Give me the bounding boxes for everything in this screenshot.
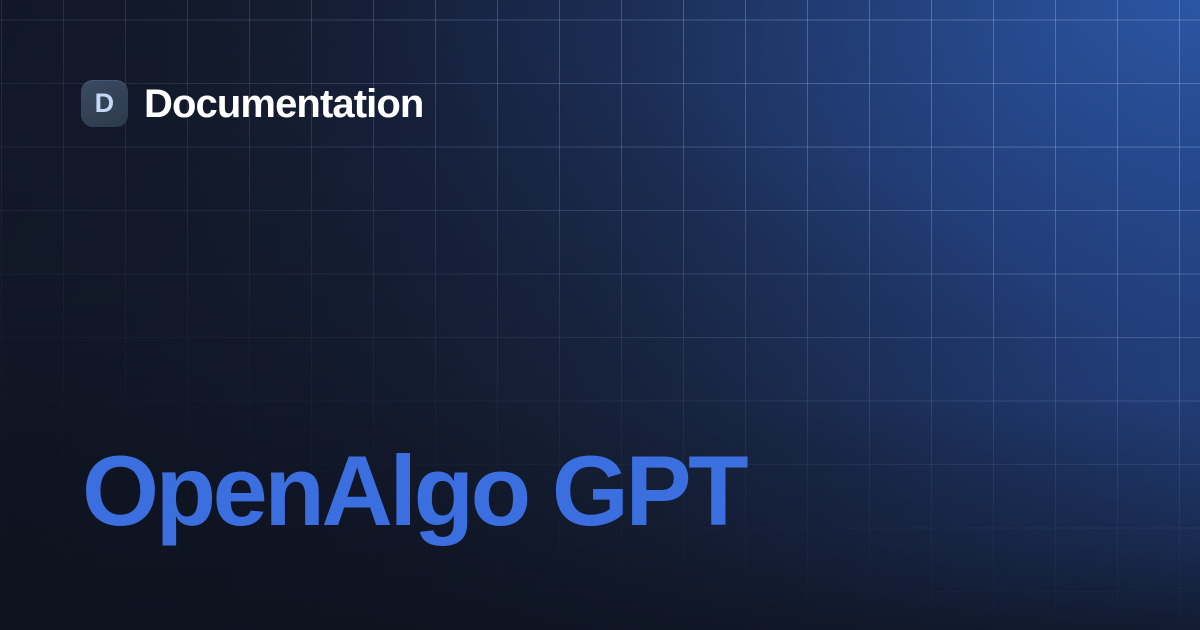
page-title: OpenAlgo GPT [82,441,745,540]
documentation-badge-icon: D [81,80,128,127]
social-preview-card: D Documentation OpenAlgo GPT [0,0,1200,630]
hero-block: OpenAlgo GPT [82,441,745,540]
documentation-header: D Documentation [81,80,423,127]
badge-letter: D [95,90,115,117]
header-label: Documentation [144,84,423,124]
